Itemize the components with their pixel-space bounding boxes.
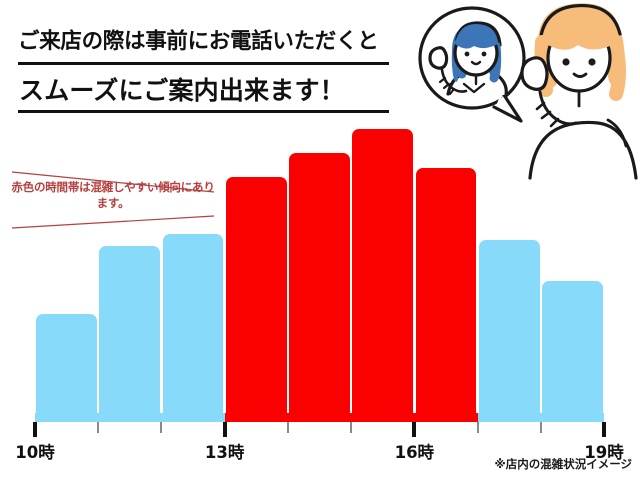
infographic-root: ご来店の際は事前にお電話いただくと スムーズにご案内出来ます！ 赤色の時間帯は混… <box>0 0 640 480</box>
chart-axis-tick-major <box>33 422 37 437</box>
chart-axis-tick-major <box>223 422 227 437</box>
phone-illustration <box>412 0 640 182</box>
chart-x-label: 13時 <box>205 439 244 463</box>
chart-axis-band <box>225 413 478 422</box>
chart-bar <box>36 314 97 413</box>
chart-bar <box>479 240 540 413</box>
chart-axis-tick-minor <box>287 422 289 433</box>
chart-x-label: 16時 <box>395 439 434 463</box>
chart-bar <box>352 129 413 413</box>
chart-bar <box>163 234 224 413</box>
chart-axis-tick-major <box>412 422 416 437</box>
chart-bar <box>289 153 350 413</box>
chart-axis-band <box>478 413 604 422</box>
chart-axis-tick-minor <box>160 422 162 433</box>
chart-axis-tick-minor <box>540 422 542 433</box>
main-woman-figure <box>522 3 636 178</box>
chart-bar <box>226 177 287 413</box>
chart-axis-tick-minor <box>350 422 352 433</box>
chart-bar <box>416 168 477 413</box>
chart-bar <box>99 246 160 413</box>
chart-axis-tick-major <box>602 422 606 437</box>
chart-x-label: 10時 <box>15 439 54 463</box>
chart-footnote: ※店内の混雑状況イメージ <box>495 456 632 472</box>
chart-axis-band <box>35 413 225 422</box>
chart-axis-tick-minor <box>477 422 479 433</box>
chart-axis-tick-minor <box>97 422 99 433</box>
chart-bar <box>542 281 603 413</box>
